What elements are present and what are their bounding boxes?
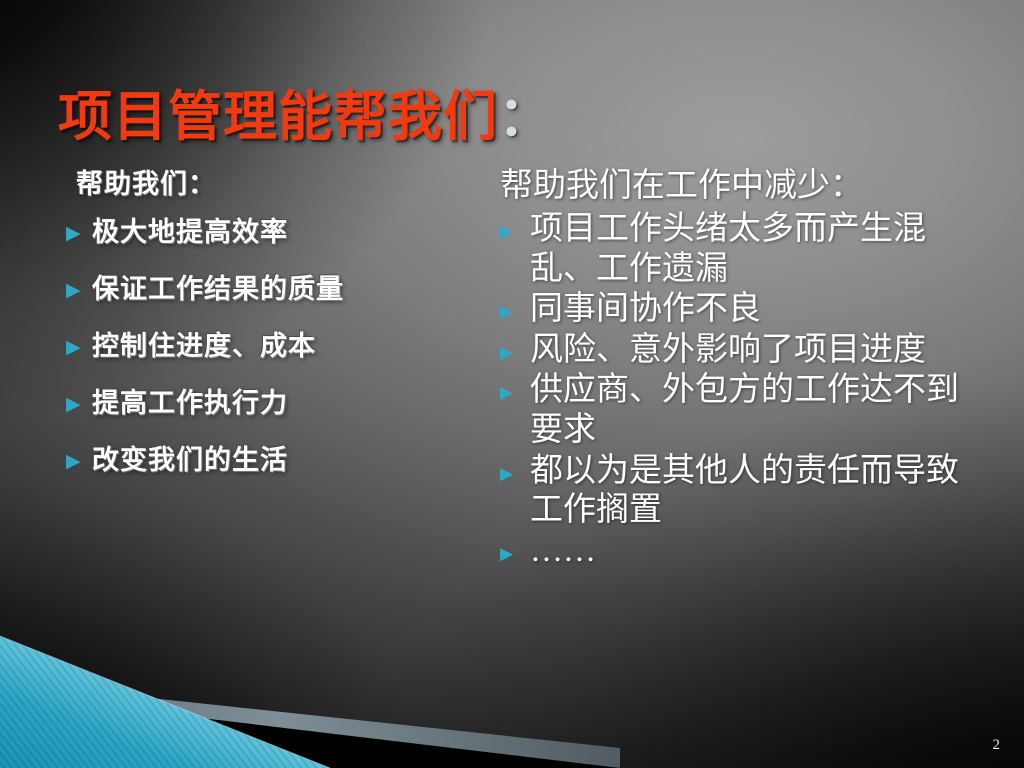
list-item: ▶ 同事间协作不良 xyxy=(500,290,970,330)
list-item-text: …… xyxy=(530,532,970,572)
list-item-text: 提高工作执行力 xyxy=(92,386,486,420)
slide-number: 2 xyxy=(993,737,1001,754)
list-item-text: 同事间协作不良 xyxy=(530,290,970,330)
right-column-heading: 帮助我们在工作中减少： xyxy=(500,158,970,206)
list-item: ▶ 风险、意外影响了项目进度 xyxy=(500,331,970,371)
right-bullet-list: ▶ 项目工作头绪太多而产生混乱、工作遗漏 ▶ 同事间协作不良 ▶ 风险、意外影响… xyxy=(500,210,970,571)
list-item-text: 改变我们的生活 xyxy=(92,443,486,477)
triangle-bullet-icon: ▶ xyxy=(66,443,92,471)
triangle-bullet-icon: ▶ xyxy=(66,215,92,243)
list-item-text: 控制住进度、成本 xyxy=(92,329,486,363)
list-item: ▶ 供应商、外包方的工作达不到要求 xyxy=(500,371,970,450)
list-item-text: 项目工作头绪太多而产生混乱、工作遗漏 xyxy=(530,210,970,289)
list-item-text: 极大地提高效率 xyxy=(92,215,486,249)
triangle-bullet-icon: ▶ xyxy=(500,371,530,401)
triangle-bullet-icon: ▶ xyxy=(500,532,530,562)
presentation-slide: 项目管理能帮我们： 帮助我们： ▶ 极大地提高效率 ▶ 保证工作结果的质量 ▶ … xyxy=(0,0,1024,768)
slide-title: 项目管理能帮我们： xyxy=(58,88,553,146)
list-item-text: 保证工作结果的质量 xyxy=(92,272,486,306)
list-item: ▶ 极大地提高效率 xyxy=(66,215,486,249)
list-item-text: 都以为是其他人的责任而导致工作搁置 xyxy=(530,452,970,531)
right-content-column: 帮助我们在工作中减少： ▶ 项目工作头绪太多而产生混乱、工作遗漏 ▶ 同事间协作… xyxy=(500,158,970,572)
triangle-bullet-icon: ▶ xyxy=(66,329,92,357)
left-column-heading: 帮助我们： xyxy=(66,162,486,201)
triangle-bullet-icon: ▶ xyxy=(500,210,530,240)
triangle-bullet-icon: ▶ xyxy=(500,452,530,482)
list-item: ▶ 改变我们的生活 xyxy=(66,443,486,477)
slide-title-colon: ： xyxy=(498,87,553,147)
list-item: ▶ 保证工作结果的质量 xyxy=(66,272,486,306)
list-item-text: 供应商、外包方的工作达不到要求 xyxy=(530,371,970,450)
list-item: ▶ 都以为是其他人的责任而导致工作搁置 xyxy=(500,452,970,531)
list-item: ▶ 提高工作执行力 xyxy=(66,386,486,420)
left-bullet-list: ▶ 极大地提高效率 ▶ 保证工作结果的质量 ▶ 控制住进度、成本 ▶ 提高工作执… xyxy=(66,215,486,477)
triangle-bullet-icon: ▶ xyxy=(500,331,530,361)
triangle-bullet-icon: ▶ xyxy=(66,386,92,414)
left-content-column: 帮助我们： ▶ 极大地提高效率 ▶ 保证工作结果的质量 ▶ 控制住进度、成本 ▶… xyxy=(66,162,486,500)
list-item: ▶ 项目工作头绪太多而产生混乱、工作遗漏 xyxy=(500,210,970,289)
triangle-bullet-icon: ▶ xyxy=(66,272,92,300)
list-item: ▶ 控制住进度、成本 xyxy=(66,329,486,363)
list-item: ▶ …… xyxy=(500,532,970,572)
slide-title-text: 项目管理能帮我们 xyxy=(58,87,498,147)
list-item-text: 风险、意外影响了项目进度 xyxy=(530,331,970,371)
triangle-bullet-icon: ▶ xyxy=(500,290,530,320)
